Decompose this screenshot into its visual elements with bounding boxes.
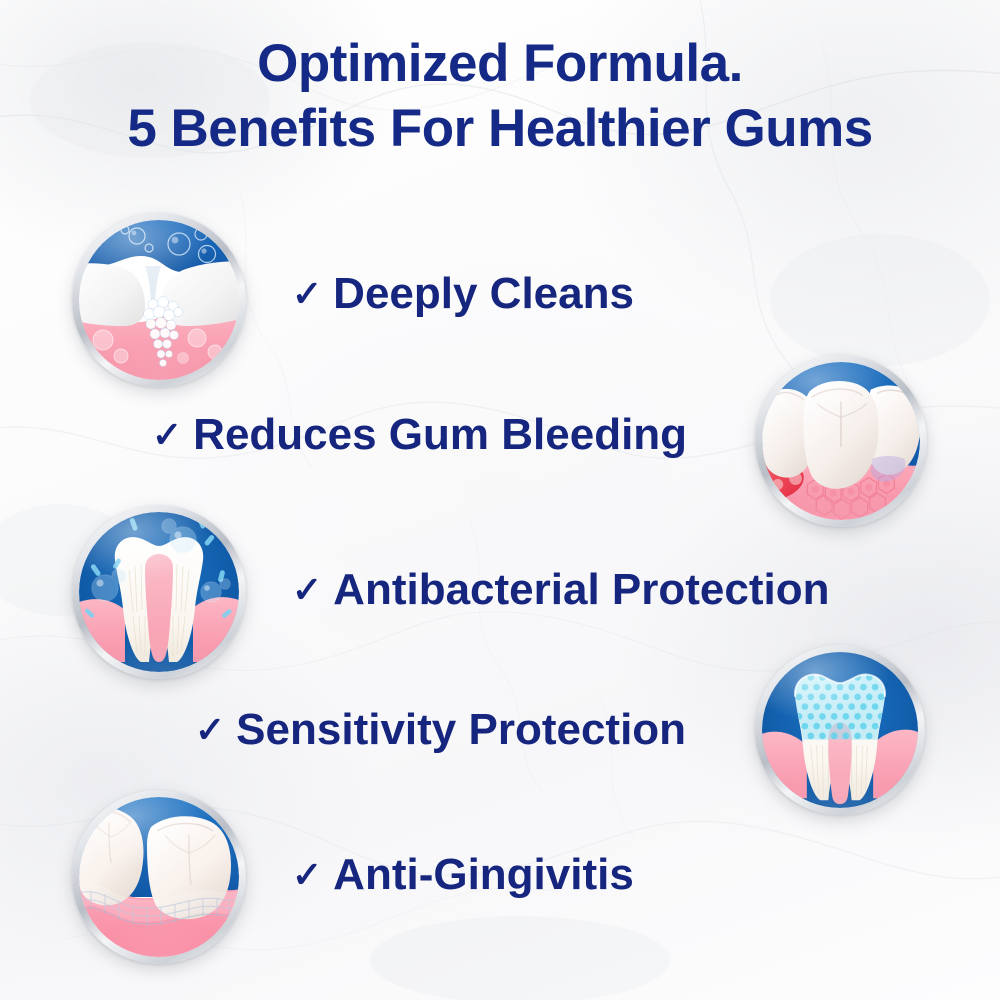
benefit-item-sensitivity-protection: ✓ Sensitivity Protection bbox=[195, 705, 686, 755]
promo-graphic: Optimized Formula. 5 Benefits For Health… bbox=[0, 0, 1000, 1000]
benefit-item-deeply-cleans: ✓ Deeply Cleans bbox=[292, 269, 634, 319]
illustration-healthy-molars-with-protected-gumline bbox=[72, 790, 246, 964]
benefit-label: Anti-Gingivitis bbox=[333, 850, 634, 900]
benefit-label: Deeply Cleans bbox=[333, 269, 634, 319]
antibacterial-scene bbox=[79, 512, 239, 672]
gum-bleeding-scene bbox=[762, 362, 920, 520]
illustration-tooth-cross-section-with-bacteria bbox=[72, 505, 246, 679]
anti-gingivitis-scene bbox=[79, 797, 239, 957]
check-icon: ✓ bbox=[152, 417, 182, 453]
title-line-1: Optimized Formula. bbox=[0, 34, 1000, 93]
benefit-label: Antibacterial Protection bbox=[333, 565, 829, 615]
check-icon: ✓ bbox=[292, 857, 322, 893]
sensitivity-shield-scene bbox=[762, 652, 918, 808]
check-icon: ✓ bbox=[292, 276, 322, 312]
illustration-molars-with-inflamed-bleeding-gum bbox=[755, 355, 927, 527]
deep-clean-scene bbox=[79, 220, 239, 380]
benefit-item-reduces-gum-bleeding: ✓ Reduces Gum Bleeding bbox=[152, 410, 687, 460]
benefit-item-antibacterial-protection: ✓ Antibacterial Protection bbox=[292, 565, 829, 615]
title-line-2: 5 Benefits For Healthier Gums bbox=[0, 99, 1000, 158]
check-icon: ✓ bbox=[292, 572, 322, 608]
benefit-item-anti-gingivitis: ✓ Anti-Gingivitis bbox=[292, 850, 634, 900]
benefit-label: Sensitivity Protection bbox=[236, 705, 686, 755]
illustration-deep-clean-foam-between-teeth bbox=[72, 213, 246, 387]
page-title: Optimized Formula. 5 Benefits For Health… bbox=[0, 34, 1000, 159]
illustration-tooth-with-cyan-shield-layer bbox=[755, 645, 925, 815]
check-icon: ✓ bbox=[195, 712, 225, 748]
benefit-label: Reduces Gum Bleeding bbox=[193, 410, 687, 460]
